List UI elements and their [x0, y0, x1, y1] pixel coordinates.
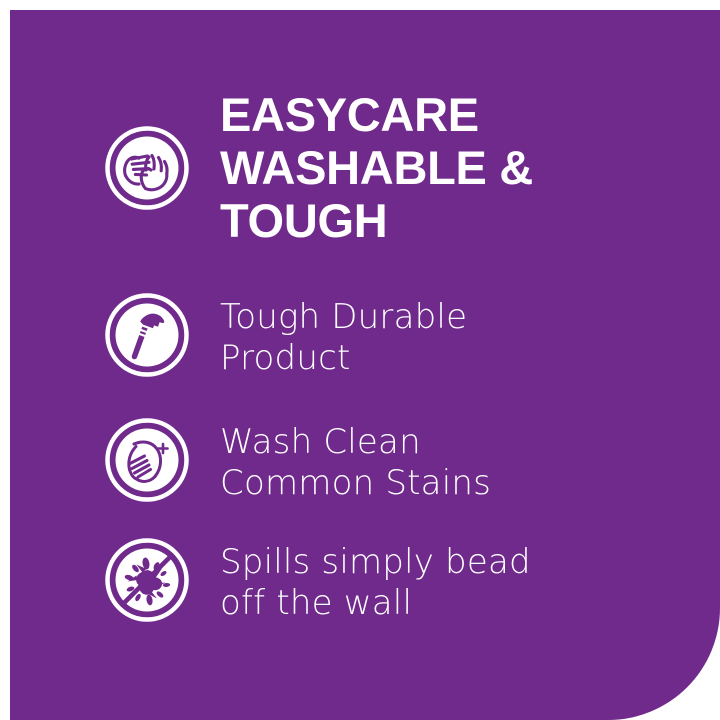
no-splash-icon	[105, 538, 189, 622]
feature-row-spills-bead-off: Spills simply bead off the wall	[105, 538, 531, 625]
page-title: EASYCARE WASHABLE & TOUGH	[220, 88, 533, 247]
washing-hands-icon	[105, 126, 189, 210]
feature-2-line-1: Wash Clean	[220, 422, 421, 462]
headline-row: EASYCARE WASHABLE & TOUGH	[105, 88, 533, 247]
headline-line-1: EASYCARE	[220, 88, 479, 141]
hand-wiping-sparkle-icon	[105, 418, 189, 502]
feature-row-tough-durable-product: Tough Durable Product	[105, 293, 467, 380]
feature-1-line-1: Tough Durable	[220, 297, 467, 337]
headline-line-3: TOUGH	[220, 194, 387, 247]
feature-1-line-2: Product	[220, 338, 351, 378]
feature-text-2: Wash Clean Common Stains	[220, 422, 491, 505]
feature-text-1: Tough Durable Product	[220, 297, 467, 380]
feature-3-line-1: Spills simply bead	[220, 542, 531, 582]
feature-2-line-2: Common Stains	[220, 463, 491, 503]
feature-text-3: Spills simply bead off the wall	[220, 542, 531, 625]
panel-content: EASYCARE WASHABLE & TOUGH	[10, 10, 720, 720]
purple-feature-panel: EASYCARE WASHABLE & TOUGH	[10, 10, 720, 720]
feature-3-line-2: off the wall	[220, 583, 412, 623]
feature-row-wash-clean-common-stains: Wash Clean Common Stains	[105, 418, 491, 505]
headline-line-2: WASHABLE &	[220, 141, 533, 194]
hammer-icon	[105, 293, 189, 377]
